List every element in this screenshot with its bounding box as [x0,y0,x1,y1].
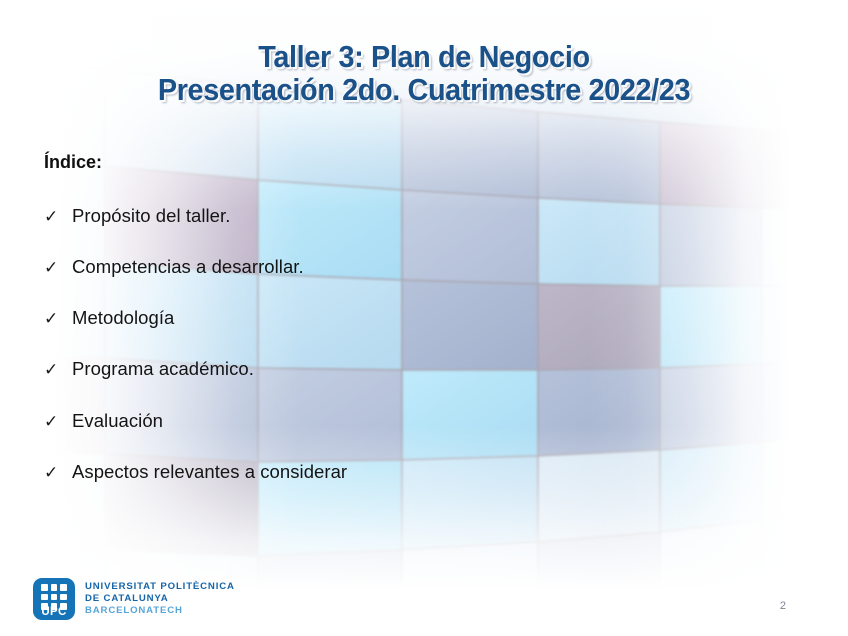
upc-wordmark-line-1: UNIVERSITAT POLITÈCNICA [85,581,235,593]
list-item: ✓ Competencias a desarrollar. [44,255,564,278]
check-icon: ✓ [44,257,72,278]
list-item: ✓ Propósito del taller. [44,204,564,227]
list-item-label: Metodología [72,306,174,329]
list-item: ✓ Aspectos relevantes a considerar [44,460,564,483]
list-item-label: Propósito del taller. [72,204,230,227]
list-item-label: Programa académico. [72,357,254,380]
check-icon: ✓ [44,308,72,329]
list-item: ✓ Evaluación [44,409,564,432]
page-number: 2 [780,600,786,612]
upc-logo: UPC UNIVERSITAT POLITÈCNICA DE CATALUNYA… [33,578,235,620]
list-item: ✓ Metodología [44,306,564,329]
upc-mark-label: UPC [33,607,75,619]
list-item: ✓ Programa académico. [44,357,564,380]
check-icon: ✓ [44,411,72,432]
upc-wordmark: UNIVERSITAT POLITÈCNICA DE CATALUNYA BAR… [85,581,235,618]
index-heading: Índice: [44,152,564,174]
upc-logo-mark-icon: UPC [33,578,75,620]
list-item-label: Evaluación [72,409,163,432]
list-item-label: Aspectos relevantes a considerar [72,460,347,483]
check-icon: ✓ [44,462,72,483]
index-section: Índice: ✓ Propósito del taller. ✓ Compet… [44,152,564,511]
tile-column-f [660,122,762,614]
upc-wordmark-line-3: BARCELONATECH [85,605,235,617]
list-item-label: Competencias a desarrollar. [72,255,304,278]
tile-column-g [762,130,846,598]
presentation-slide: Taller 3: Plan de Negocio Presentación 2… [0,0,848,636]
check-icon: ✓ [44,206,72,227]
check-icon: ✓ [44,359,72,380]
upc-wordmark-line-2: DE CATALUNYA [85,593,235,605]
